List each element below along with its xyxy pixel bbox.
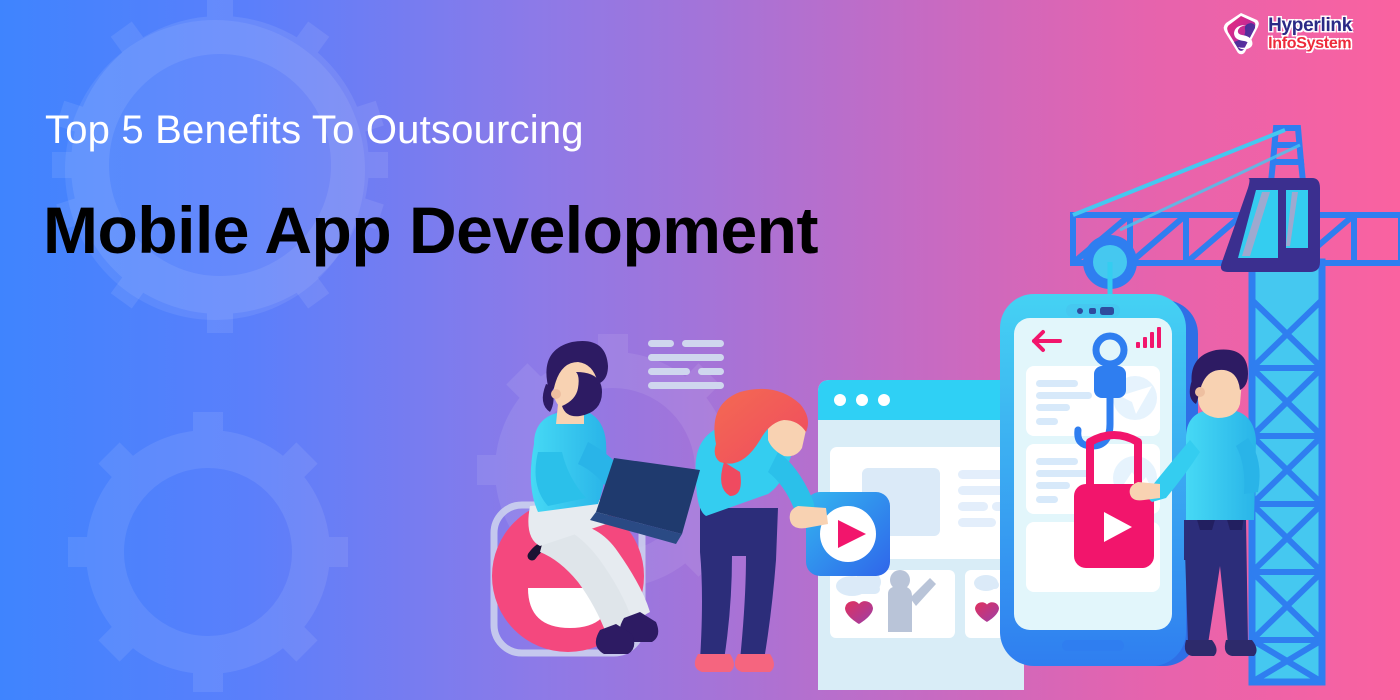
- logo-mark-icon: [1221, 12, 1261, 56]
- page-title: Mobile App Development: [43, 192, 818, 268]
- banner-root: Top 5 Benefits To Outsourcing Mobile App…: [0, 0, 1400, 700]
- brand-logo[interactable]: Hyperlink InfoSystem: [1221, 12, 1352, 56]
- placeholder-text-lines: [648, 340, 724, 389]
- logo-wordmark: Hyperlink InfoSystem: [1268, 16, 1352, 52]
- play-button-tile: [806, 492, 890, 576]
- crane-cabin: [1221, 178, 1320, 272]
- browser-dots: [834, 394, 890, 406]
- logo-line-infosystem: InfoSystem: [1268, 36, 1352, 52]
- headline-subtitle: Top 5 Benefits To Outsourcing: [45, 108, 584, 153]
- logo-line-hyperlink: Hyperlink: [1268, 16, 1352, 35]
- illustration: [0, 0, 1400, 700]
